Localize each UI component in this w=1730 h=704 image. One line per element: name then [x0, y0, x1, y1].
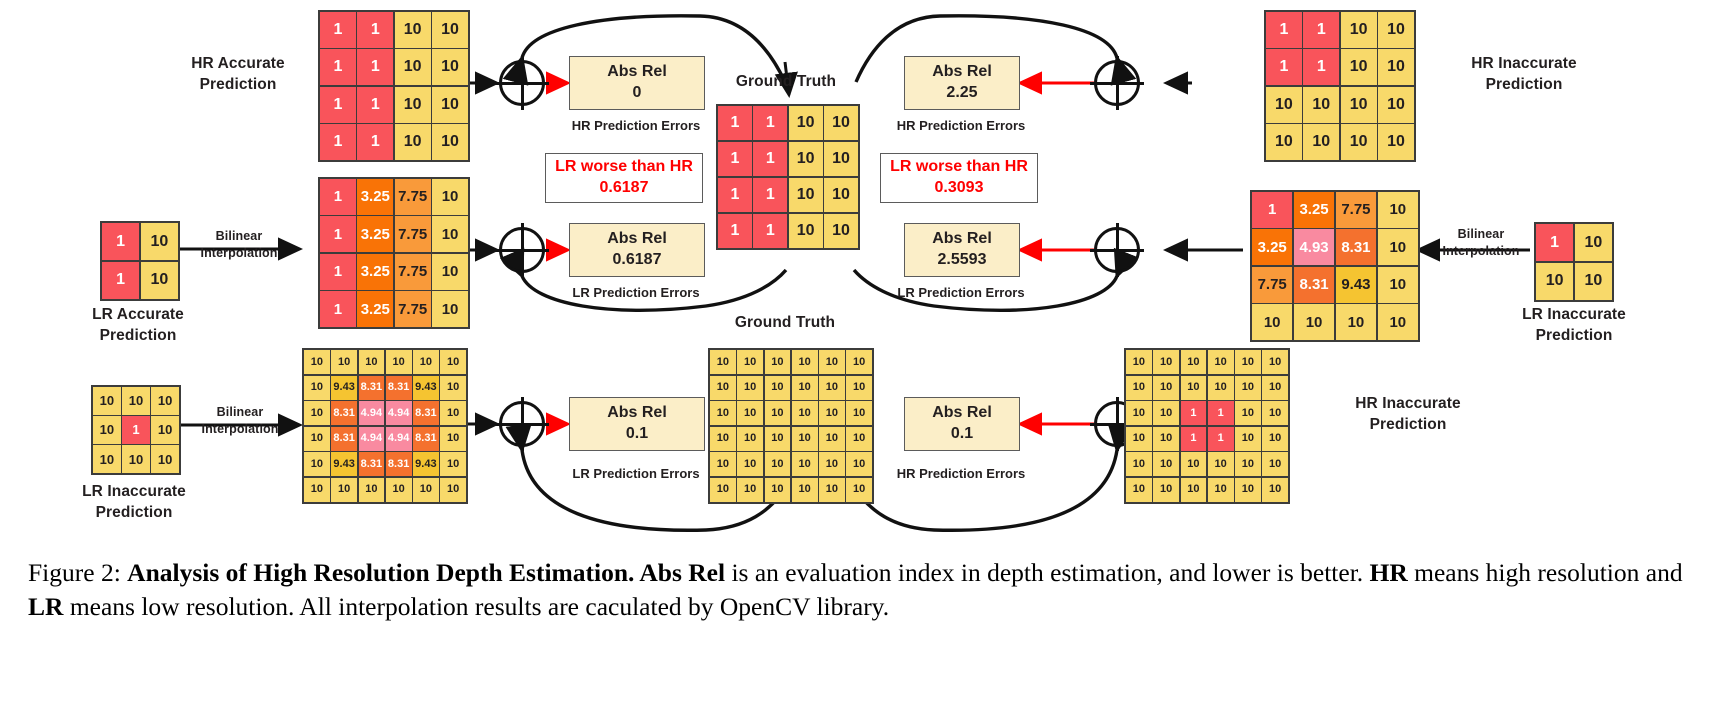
grid-cell: 1 — [753, 214, 787, 248]
grid-cell: 10 — [141, 223, 178, 260]
grid-cell: 10 — [1153, 452, 1179, 476]
caption-text-1: is an evaluation index in depth estimati… — [725, 558, 1369, 587]
grid-lr-accurate-2x2: 110110 — [100, 221, 180, 301]
grid-cell: 10 — [1153, 427, 1179, 451]
grid-cell: 10 — [765, 427, 791, 451]
grid-cell: 3.25 — [1252, 229, 1292, 265]
label-bilinear-interpolation-right: Bilinear Interpolation — [1418, 226, 1544, 260]
grid-cell: 10 — [440, 452, 466, 476]
grid-lr-accurate-interp-4x4: 13.257.751013.257.751013.257.751013.257.… — [318, 177, 470, 329]
grid-cell: 1 — [1303, 49, 1339, 85]
grid-cell: 10 — [824, 214, 858, 248]
grid-cell: 10 — [440, 427, 466, 451]
label-bilinear-interpolation-left-top: Bilinear Interpolation — [176, 228, 302, 262]
grid-cell: 10 — [710, 401, 736, 425]
grid-cell: 1 — [1536, 224, 1573, 261]
grid-cell: 1 — [320, 49, 356, 85]
grid-cell: 1 — [1181, 427, 1207, 451]
grid-cell: 10 — [792, 427, 818, 451]
grid-cell: 4.94 — [386, 427, 412, 451]
grid-cell: 10 — [1126, 452, 1152, 476]
grid-cell: 10 — [359, 478, 385, 502]
figure-canvas: HR Accurate Prediction 11101011101011101… — [0, 0, 1730, 704]
abs-rel-box-hr-left: Abs Rel 0 — [569, 56, 705, 110]
grid-cell: 10 — [1303, 87, 1339, 123]
label-lr-inaccurate-prediction-bottom: LR Inaccurate Prediction — [36, 482, 232, 524]
caption-prefix: Figure 2: — [28, 558, 127, 587]
grid-cell: 10 — [432, 49, 468, 85]
grid-cell: 10 — [765, 478, 791, 502]
grid-cell: 1 — [102, 262, 139, 299]
warn-box-right: LR worse than HR 0.3093 — [880, 153, 1038, 203]
abs-rel-value: 2.25 — [946, 83, 977, 104]
grid-cell: 10 — [304, 427, 330, 451]
grid-cell: 10 — [846, 478, 872, 502]
grid-cell: 10 — [1126, 427, 1152, 451]
grid-cell: 10 — [789, 214, 823, 248]
grid-cell: 10 — [1266, 87, 1302, 123]
sum-operator-top-right — [1094, 60, 1140, 106]
grid-cell: 10 — [1262, 478, 1288, 502]
warn-title: LR worse than HR — [890, 157, 1028, 178]
grid-cell: 10 — [1378, 192, 1418, 228]
grid-cell: 10 — [789, 142, 823, 176]
grid-cell: 10 — [737, 350, 763, 374]
grid-cell: 1 — [718, 178, 752, 212]
grid-cell: 10 — [304, 478, 330, 502]
grid-cell: 10 — [151, 387, 179, 415]
grid-cell: 10 — [737, 427, 763, 451]
grid-cell: 10 — [1378, 49, 1414, 85]
sum-operator-mid-left — [499, 227, 545, 273]
grid-cell: 3.25 — [357, 216, 393, 252]
grid-cell: 10 — [1208, 350, 1234, 374]
grid-cell: 10 — [359, 350, 385, 374]
grid-cell: 10 — [93, 387, 121, 415]
grid-cell: 10 — [1126, 350, 1152, 374]
grid-cell: 10 — [1262, 427, 1288, 451]
grid-cell: 10 — [1181, 376, 1207, 400]
grid-cell: 1 — [320, 87, 356, 123]
grid-cell: 10 — [395, 124, 431, 160]
grid-cell: 10 — [1378, 12, 1414, 48]
grid-cell: 7.75 — [1252, 267, 1292, 303]
grid-cell: 10 — [1153, 401, 1179, 425]
grid-cell: 10 — [792, 478, 818, 502]
grid-cell: 10 — [1262, 350, 1288, 374]
abs-rel-box-lr-left: Abs Rel 0.6187 — [569, 223, 705, 277]
grid-cell: 10 — [122, 387, 150, 415]
grid-cell: 9.43 — [331, 452, 357, 476]
grid-cell: 1 — [1208, 401, 1234, 425]
grid-cell: 10 — [789, 106, 823, 140]
grid-cell: 10 — [1235, 452, 1261, 476]
grid-cell: 1 — [357, 12, 393, 48]
grid-cell: 8.31 — [359, 452, 385, 476]
grid-cell: 10 — [1181, 478, 1207, 502]
grid-cell: 10 — [1341, 124, 1377, 160]
grid-cell: 10 — [819, 401, 845, 425]
grid-cell: 10 — [1235, 478, 1261, 502]
abs-rel-box-lr-right: Abs Rel 2.5593 — [904, 223, 1020, 277]
grid-cell: 10 — [819, 452, 845, 476]
grid-cell: 10 — [737, 478, 763, 502]
grid-cell: 1 — [753, 106, 787, 140]
grid-cell: 10 — [395, 87, 431, 123]
grid-cell: 10 — [1126, 401, 1152, 425]
grid-cell: 10 — [304, 401, 330, 425]
figure-caption: Figure 2: Analysis of High Resolution De… — [28, 556, 1704, 624]
grid-cell: 1 — [1208, 427, 1234, 451]
grid-cell: 10 — [432, 216, 468, 252]
grid-cell: 10 — [1536, 263, 1573, 300]
grid-cell: 4.93 — [1294, 229, 1334, 265]
grid-cell: 10 — [151, 445, 179, 473]
grid-cell: 10 — [819, 478, 845, 502]
grid-cell: 10 — [304, 376, 330, 400]
label-ground-truth-top: Ground Truth — [716, 72, 856, 93]
label-hr-inaccurate-prediction-bottom: HR Inaccurate Prediction — [1306, 394, 1510, 436]
sum-operator-mid-right — [1094, 227, 1140, 273]
grid-cell: 10 — [824, 106, 858, 140]
grid-cell: 10 — [93, 416, 121, 444]
grid-lr-inaccurate-interp-6x6: 101010101010109.438.318.319.4310108.314.… — [302, 348, 468, 504]
grid-cell: 8.31 — [331, 401, 357, 425]
grid-cell: 10 — [1235, 427, 1261, 451]
grid-cell: 10 — [824, 178, 858, 212]
caption-lr-prediction-errors-bottom-left: LR Prediction Errors — [569, 466, 703, 481]
caption-text-3: means low resolution. All interpolation … — [63, 592, 889, 621]
grid-cell: 10 — [1341, 12, 1377, 48]
grid-cell: 8.31 — [1294, 267, 1334, 303]
caption-bold-3: LR — [28, 592, 63, 621]
grid-cell: 10 — [331, 350, 357, 374]
grid-cell: 10 — [1235, 401, 1261, 425]
grid-cell: 10 — [1378, 87, 1414, 123]
abs-rel-title: Abs Rel — [607, 403, 667, 424]
grid-cell: 10 — [331, 478, 357, 502]
caption-bold-2: HR — [1370, 558, 1408, 587]
grid-cell: 10 — [1303, 124, 1339, 160]
grid-cell: 10 — [395, 12, 431, 48]
grid-lr-inaccurate-2x2: 1101010 — [1534, 222, 1614, 302]
caption-hr-prediction-errors-right: HR Prediction Errors — [884, 118, 1038, 133]
grid-cell: 10 — [386, 478, 412, 502]
abs-rel-title: Abs Rel — [932, 229, 992, 250]
grid-cell: 1 — [753, 178, 787, 212]
grid-cell: 8.31 — [413, 401, 439, 425]
grid-cell: 1 — [718, 106, 752, 140]
caption-lr-prediction-errors-right: LR Prediction Errors — [884, 285, 1038, 300]
grid-cell: 10 — [710, 427, 736, 451]
grid-cell: 7.75 — [1336, 192, 1376, 228]
grid-cell: 10 — [792, 350, 818, 374]
grid-lr-inaccurate-3x3: 10101010110101010 — [91, 385, 181, 475]
label-bilinear-interpolation-left-bottom: Bilinear Interpolation — [177, 404, 303, 438]
grid-cell: 10 — [765, 350, 791, 374]
grid-cell: 10 — [141, 262, 178, 299]
grid-cell: 4.94 — [386, 401, 412, 425]
grid-cell: 10 — [1262, 401, 1288, 425]
abs-rel-value: 0.1 — [951, 424, 973, 445]
grid-ground-truth-4x4: 111010111010111010111010 — [716, 104, 860, 250]
grid-cell: 10 — [737, 401, 763, 425]
caption-lr-prediction-errors-left: LR Prediction Errors — [569, 285, 703, 300]
grid-cell: 10 — [432, 12, 468, 48]
grid-cell: 4.94 — [359, 401, 385, 425]
grid-cell: 9.43 — [413, 376, 439, 400]
grid-cell: 3.25 — [1294, 192, 1334, 228]
grid-cell: 10 — [413, 350, 439, 374]
abs-rel-title: Abs Rel — [932, 403, 992, 424]
grid-cell: 10 — [819, 350, 845, 374]
grid-cell: 10 — [792, 401, 818, 425]
warn-value: 0.3093 — [935, 178, 984, 199]
grid-cell: 8.31 — [359, 376, 385, 400]
grid-cell: 10 — [765, 401, 791, 425]
grid-cell: 10 — [846, 452, 872, 476]
grid-cell: 10 — [395, 49, 431, 85]
abs-rel-title: Abs Rel — [607, 62, 667, 83]
grid-cell: 10 — [1208, 478, 1234, 502]
grid-cell: 8.31 — [331, 427, 357, 451]
grid-cell: 10 — [710, 452, 736, 476]
grid-cell: 10 — [432, 124, 468, 160]
grid-cell: 1 — [1252, 192, 1292, 228]
grid-cell: 10 — [1262, 452, 1288, 476]
abs-rel-title: Abs Rel — [932, 62, 992, 83]
grid-cell: 1 — [320, 124, 356, 160]
grid-cell: 1 — [718, 142, 752, 176]
grid-cell: 1 — [1181, 401, 1207, 425]
grid-cell: 10 — [1266, 124, 1302, 160]
grid-cell: 10 — [432, 291, 468, 327]
grid-cell: 10 — [737, 376, 763, 400]
grid-cell: 4.94 — [359, 427, 385, 451]
grid-cell: 10 — [765, 452, 791, 476]
grid-cell: 7.75 — [395, 254, 431, 290]
grid-cell: 9.43 — [331, 376, 357, 400]
grid-cell: 1 — [122, 416, 150, 444]
grid-cell: 10 — [1341, 49, 1377, 85]
grid-cell: 3.25 — [357, 254, 393, 290]
grid-cell: 8.31 — [413, 427, 439, 451]
grid-cell: 7.75 — [395, 216, 431, 252]
grid-cell: 8.31 — [1336, 229, 1376, 265]
label-lr-accurate-prediction: LR Accurate Prediction — [42, 305, 234, 347]
label-lr-inaccurate-prediction: LR Inaccurate Prediction — [1476, 305, 1672, 347]
grid-cell: 10 — [792, 452, 818, 476]
caption-hr-prediction-errors-bottom-right: HR Prediction Errors — [884, 466, 1038, 481]
grid-cell: 10 — [792, 376, 818, 400]
warn-box-left: LR worse than HR 0.6187 — [545, 153, 703, 203]
grid-cell: 10 — [386, 350, 412, 374]
grid-cell: 7.75 — [395, 179, 431, 215]
grid-cell: 1 — [1266, 12, 1302, 48]
grid-cell: 10 — [304, 452, 330, 476]
grid-cell: 8.31 — [386, 376, 412, 400]
grid-cell: 10 — [440, 401, 466, 425]
label-hr-inaccurate-prediction: HR Inaccurate Prediction — [1424, 54, 1624, 96]
grid-cell: 1 — [718, 214, 752, 248]
grid-lr-inaccurate-interp-4x4: 13.257.75103.254.938.31107.758.319.43101… — [1250, 190, 1420, 342]
grid-cell: 1 — [102, 223, 139, 260]
grid-cell: 10 — [1336, 304, 1376, 340]
grid-cell: 1 — [320, 291, 356, 327]
abs-rel-value: 0.6187 — [613, 250, 662, 271]
grid-cell: 10 — [846, 401, 872, 425]
grid-cell: 1 — [1266, 49, 1302, 85]
caption-hr-prediction-errors-left: HR Prediction Errors — [569, 118, 703, 133]
grid-cell: 10 — [1235, 376, 1261, 400]
grid-cell: 10 — [1575, 224, 1612, 261]
grid-cell: 10 — [413, 478, 439, 502]
grid-cell: 1 — [357, 124, 393, 160]
grid-cell: 10 — [765, 376, 791, 400]
grid-cell: 10 — [710, 350, 736, 374]
grid-cell: 10 — [819, 376, 845, 400]
grid-cell: 10 — [432, 254, 468, 290]
abs-rel-value: 0 — [633, 83, 642, 104]
grid-cell: 10 — [710, 478, 736, 502]
abs-rel-box-hr-right: Abs Rel 2.25 — [904, 56, 1020, 110]
grid-hr-inaccurate-6x6: 1010101010101010101010101010111010101011… — [1124, 348, 1290, 504]
grid-cell: 1 — [753, 142, 787, 176]
grid-hr-inaccurate-4x4: 1110101110101010101010101010 — [1264, 10, 1416, 162]
grid-cell: 10 — [846, 376, 872, 400]
grid-ground-truth-6x6: 1010101010101010101010101010101010101010… — [708, 348, 874, 504]
grid-cell: 1 — [1303, 12, 1339, 48]
abs-rel-box-bottom-left: Abs Rel 0.1 — [569, 397, 705, 451]
grid-cell: 10 — [1126, 376, 1152, 400]
grid-cell: 7.75 — [395, 291, 431, 327]
grid-cell: 10 — [1153, 376, 1179, 400]
grid-cell: 10 — [1262, 376, 1288, 400]
warn-title: LR worse than HR — [555, 157, 693, 178]
abs-rel-title: Abs Rel — [607, 229, 667, 250]
grid-cell: 10 — [151, 416, 179, 444]
grid-cell: 10 — [1235, 350, 1261, 374]
abs-rel-box-bottom-right: Abs Rel 0.1 — [904, 397, 1020, 451]
grid-cell: 10 — [1575, 263, 1612, 300]
grid-cell: 10 — [819, 427, 845, 451]
grid-cell: 3.25 — [357, 179, 393, 215]
grid-cell: 10 — [440, 478, 466, 502]
grid-cell: 1 — [320, 254, 356, 290]
grid-cell: 9.43 — [1336, 267, 1376, 303]
grid-cell: 10 — [304, 350, 330, 374]
grid-cell: 10 — [1252, 304, 1292, 340]
grid-cell: 10 — [1294, 304, 1334, 340]
grid-cell: 10 — [122, 445, 150, 473]
grid-cell: 10 — [789, 178, 823, 212]
grid-cell: 8.31 — [386, 452, 412, 476]
grid-cell: 10 — [737, 452, 763, 476]
grid-cell: 10 — [1378, 267, 1418, 303]
grid-cell: 10 — [846, 350, 872, 374]
sum-operator-bottom-left — [499, 401, 545, 447]
grid-cell: 10 — [1378, 229, 1418, 265]
abs-rel-value: 2.5593 — [938, 250, 987, 271]
grid-cell: 10 — [1181, 350, 1207, 374]
grid-cell: 3.25 — [357, 291, 393, 327]
grid-cell: 10 — [93, 445, 121, 473]
grid-cell: 10 — [846, 427, 872, 451]
grid-cell: 10 — [1378, 124, 1414, 160]
grid-cell: 10 — [1153, 478, 1179, 502]
label-hr-accurate-prediction: HR Accurate Prediction — [140, 54, 336, 96]
grid-cell: 10 — [1341, 87, 1377, 123]
grid-cell: 10 — [440, 376, 466, 400]
grid-cell: 9.43 — [413, 452, 439, 476]
grid-cell: 10 — [1208, 376, 1234, 400]
warn-value: 0.6187 — [600, 178, 649, 199]
caption-text-2: means high resolution and — [1408, 558, 1683, 587]
grid-cell: 10 — [432, 87, 468, 123]
grid-cell: 1 — [357, 87, 393, 123]
grid-cell: 10 — [824, 142, 858, 176]
grid-cell: 10 — [1378, 304, 1418, 340]
grid-cell: 1 — [357, 49, 393, 85]
grid-cell: 10 — [440, 350, 466, 374]
caption-bold-1: Analysis of High Resolution Depth Estima… — [127, 558, 725, 587]
label-ground-truth-bottom: Ground Truth — [712, 313, 858, 334]
sum-operator-top-left — [499, 60, 545, 106]
grid-hr-accurate-4x4: 111010111010111010111010 — [318, 10, 470, 162]
grid-cell: 10 — [432, 179, 468, 215]
grid-cell: 1 — [320, 216, 356, 252]
grid-cell: 1 — [320, 179, 356, 215]
abs-rel-value: 0.1 — [626, 424, 648, 445]
grid-cell: 10 — [1153, 350, 1179, 374]
grid-cell: 10 — [710, 376, 736, 400]
grid-cell: 10 — [1208, 452, 1234, 476]
grid-cell: 10 — [1181, 452, 1207, 476]
grid-cell: 10 — [1126, 478, 1152, 502]
grid-cell: 1 — [320, 12, 356, 48]
